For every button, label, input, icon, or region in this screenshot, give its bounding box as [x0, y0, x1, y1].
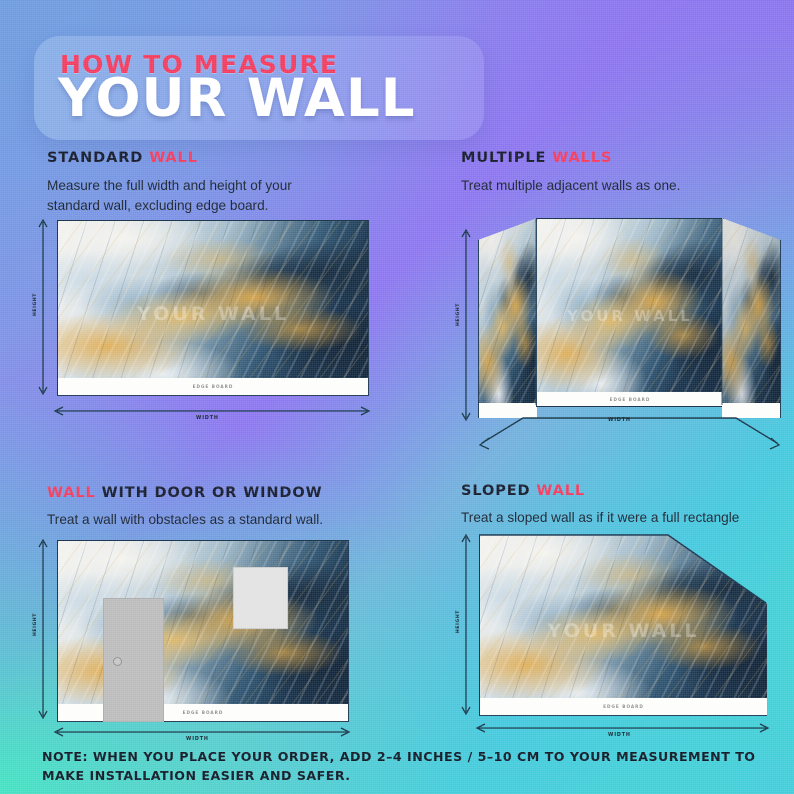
- width-label-sloped: WIDTH: [608, 733, 631, 738]
- marble-artwork-standard: [58, 221, 368, 395]
- width-label-door: WIDTH: [186, 737, 209, 742]
- height-label-multiple: HEIGHT: [456, 303, 461, 326]
- edge-board-multiple-left: [479, 403, 537, 418]
- section-description-multiple-walls: Treat multiple adjacent walls as one.: [461, 176, 771, 196]
- section-title-multiple-walls: MULTIPLE WALLS: [461, 150, 612, 166]
- marble-artwork-door-window: [58, 541, 348, 721]
- wall-panel-multiple-left: [478, 218, 537, 418]
- edge-board-label-multiple: EDGE BOARD: [610, 397, 651, 402]
- edge-board-multiple-center: EDGE BOARD: [537, 392, 723, 406]
- edge-board-sloped: EDGE BOARD: [480, 698, 767, 715]
- height-label-door: HEIGHT: [33, 613, 38, 636]
- marble-artwork-sloped: [480, 535, 767, 715]
- section-title-door-window: WALL WITH DOOR OR WINDOW: [47, 485, 322, 501]
- footer-note: NOTE: WHEN YOU PLACE YOUR ORDER, ADD 2–4…: [42, 748, 762, 786]
- title-line-2: YOUR WALL: [58, 72, 416, 125]
- section-title-pink-door: WALL: [47, 485, 102, 501]
- marble-artwork-multiple-center: [537, 219, 723, 406]
- wall-panel-standard: YOUR WALL EDGE BOARD: [57, 220, 369, 396]
- wall-panel-multiple-center: YOUR WALL EDGE BOARD: [536, 218, 724, 407]
- section-title-pink-multiple: WALLS: [552, 150, 612, 166]
- title-banner: HOW TO MEASURE YOUR WALL: [34, 36, 484, 140]
- door-handle-icon: [113, 657, 122, 666]
- section-title-dark-standard: STANDARD: [47, 150, 149, 166]
- marble-artwork-multiple-right: [722, 218, 780, 418]
- edge-board-label-sloped: EDGE BOARD: [603, 704, 644, 709]
- wall-panel-multiple-right: [722, 218, 781, 418]
- edge-board-multiple-right: [722, 403, 780, 418]
- section-description-door-window: Treat a wall with obstacles as a standar…: [47, 510, 377, 530]
- section-description-standard-wall: Measure the full width and height of you…: [47, 176, 347, 215]
- section-title-dark-sloped: SLOPED: [461, 483, 536, 499]
- width-label-standard: WIDTH: [196, 416, 219, 421]
- marble-artwork-multiple-left: [479, 218, 537, 418]
- section-title-pink-standard: WALL: [149, 150, 198, 166]
- door-obstacle: [103, 598, 164, 722]
- section-title-sloped-wall: SLOPED WALL: [461, 483, 585, 499]
- height-label-standard: HEIGHT: [33, 293, 38, 316]
- infographic-canvas: HOW TO MEASURE YOUR WALL STANDARD WALL M…: [0, 0, 794, 794]
- section-title-dark-door: WITH DOOR OR WINDOW: [102, 485, 323, 501]
- wall-panel-sloped: YOUR WALL EDGE BOARD: [479, 535, 767, 716]
- edge-board-label-door: EDGE BOARD: [183, 710, 224, 715]
- width-label-multiple: WIDTH: [608, 418, 631, 423]
- section-title-dark-multiple: MULTIPLE: [461, 150, 552, 166]
- window-obstacle: [233, 567, 288, 629]
- edge-board-door-window: EDGE BOARD: [58, 704, 348, 721]
- section-title-standard-wall: STANDARD WALL: [47, 150, 198, 166]
- edge-board-label-standard: EDGE BOARD: [193, 384, 234, 389]
- edge-board-standard: EDGE BOARD: [58, 378, 368, 395]
- section-title-pink-sloped: WALL: [536, 483, 585, 499]
- wall-panel-door-window: EDGE BOARD: [57, 540, 349, 722]
- section-description-sloped-wall: Treat a sloped wall as if it were a full…: [461, 508, 781, 528]
- height-label-sloped: HEIGHT: [456, 610, 461, 633]
